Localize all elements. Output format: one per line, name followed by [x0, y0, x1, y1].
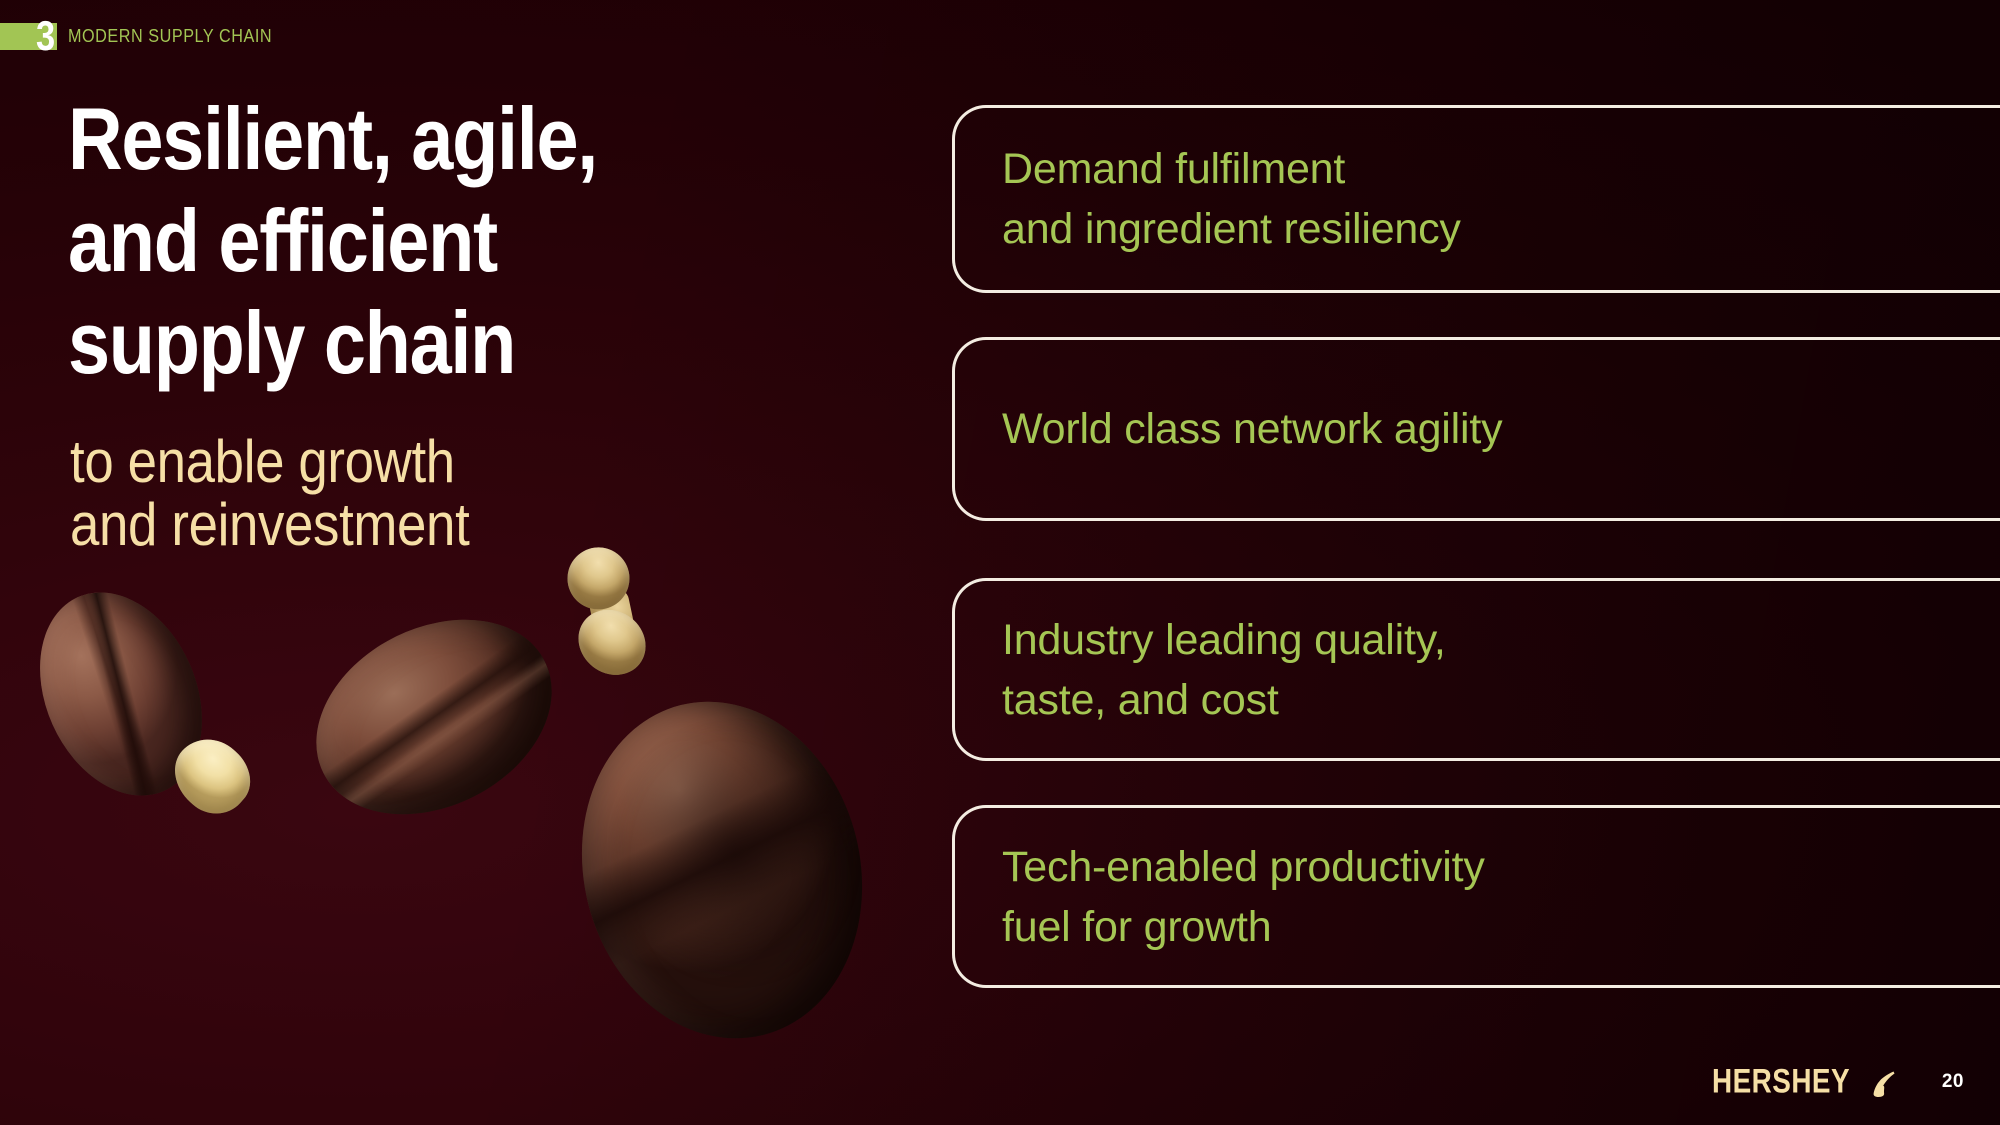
pillar-card-tech-enabled-productivity[interactable]: Tech-enabled productivity fuel for growt…: [952, 805, 2000, 988]
pillar-card-network-agility[interactable]: World class network agility: [952, 337, 2000, 521]
hershey-kiss-icon: [1867, 1069, 1895, 1099]
pillar-card-demand-fulfilment[interactable]: Demand fulfilment and ingredient resilie…: [952, 105, 2000, 293]
hershey-logo: HERSHEY: [1712, 1066, 1895, 1099]
pillar-card-list: Demand fulfilment and ingredient resilie…: [952, 0, 2000, 1125]
pillar-card-label: Demand fulfilment and ingredient resilie…: [955, 139, 1461, 259]
pillar-card-label: Industry leading quality, taste, and cos…: [955, 610, 1446, 730]
page-number: 20: [1942, 1072, 1964, 1092]
pillar-card-quality-taste-cost[interactable]: Industry leading quality, taste, and cos…: [952, 578, 2000, 761]
pillar-card-label: Tech-enabled productivity fuel for growt…: [955, 837, 1485, 957]
slide-subheadline: to enable growth and reinvestment: [70, 430, 616, 556]
pillar-card-label: World class network agility: [955, 399, 1502, 459]
hershey-wordmark: HERSHEY: [1712, 1062, 1850, 1099]
slide-headline: Resilient, agile, and efficient supply c…: [68, 88, 636, 394]
eyebrow-section-number: 3: [36, 12, 54, 60]
slide-canvas: 3 MODERN SUPPLY CHAIN Resilient, agile, …: [0, 0, 2000, 1125]
eyebrow-section-label: MODERN SUPPLY CHAIN: [68, 25, 272, 47]
